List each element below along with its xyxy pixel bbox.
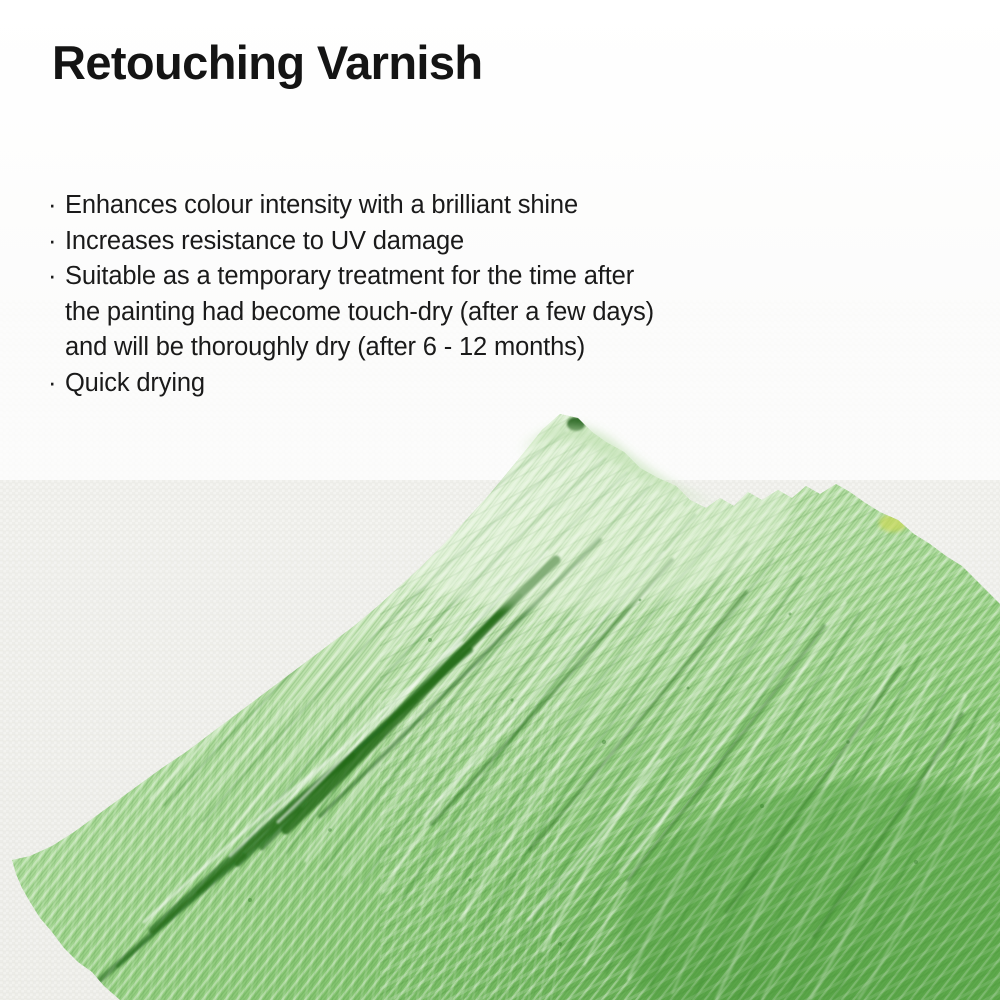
- product-info-card: Retouching Varnish · Enhances colour int…: [0, 0, 1000, 1000]
- canvas-weave-fade: [0, 300, 1000, 480]
- paint-swatch-illustration: [0, 0, 1000, 1000]
- paint-swatch-photo: [0, 0, 1000, 1000]
